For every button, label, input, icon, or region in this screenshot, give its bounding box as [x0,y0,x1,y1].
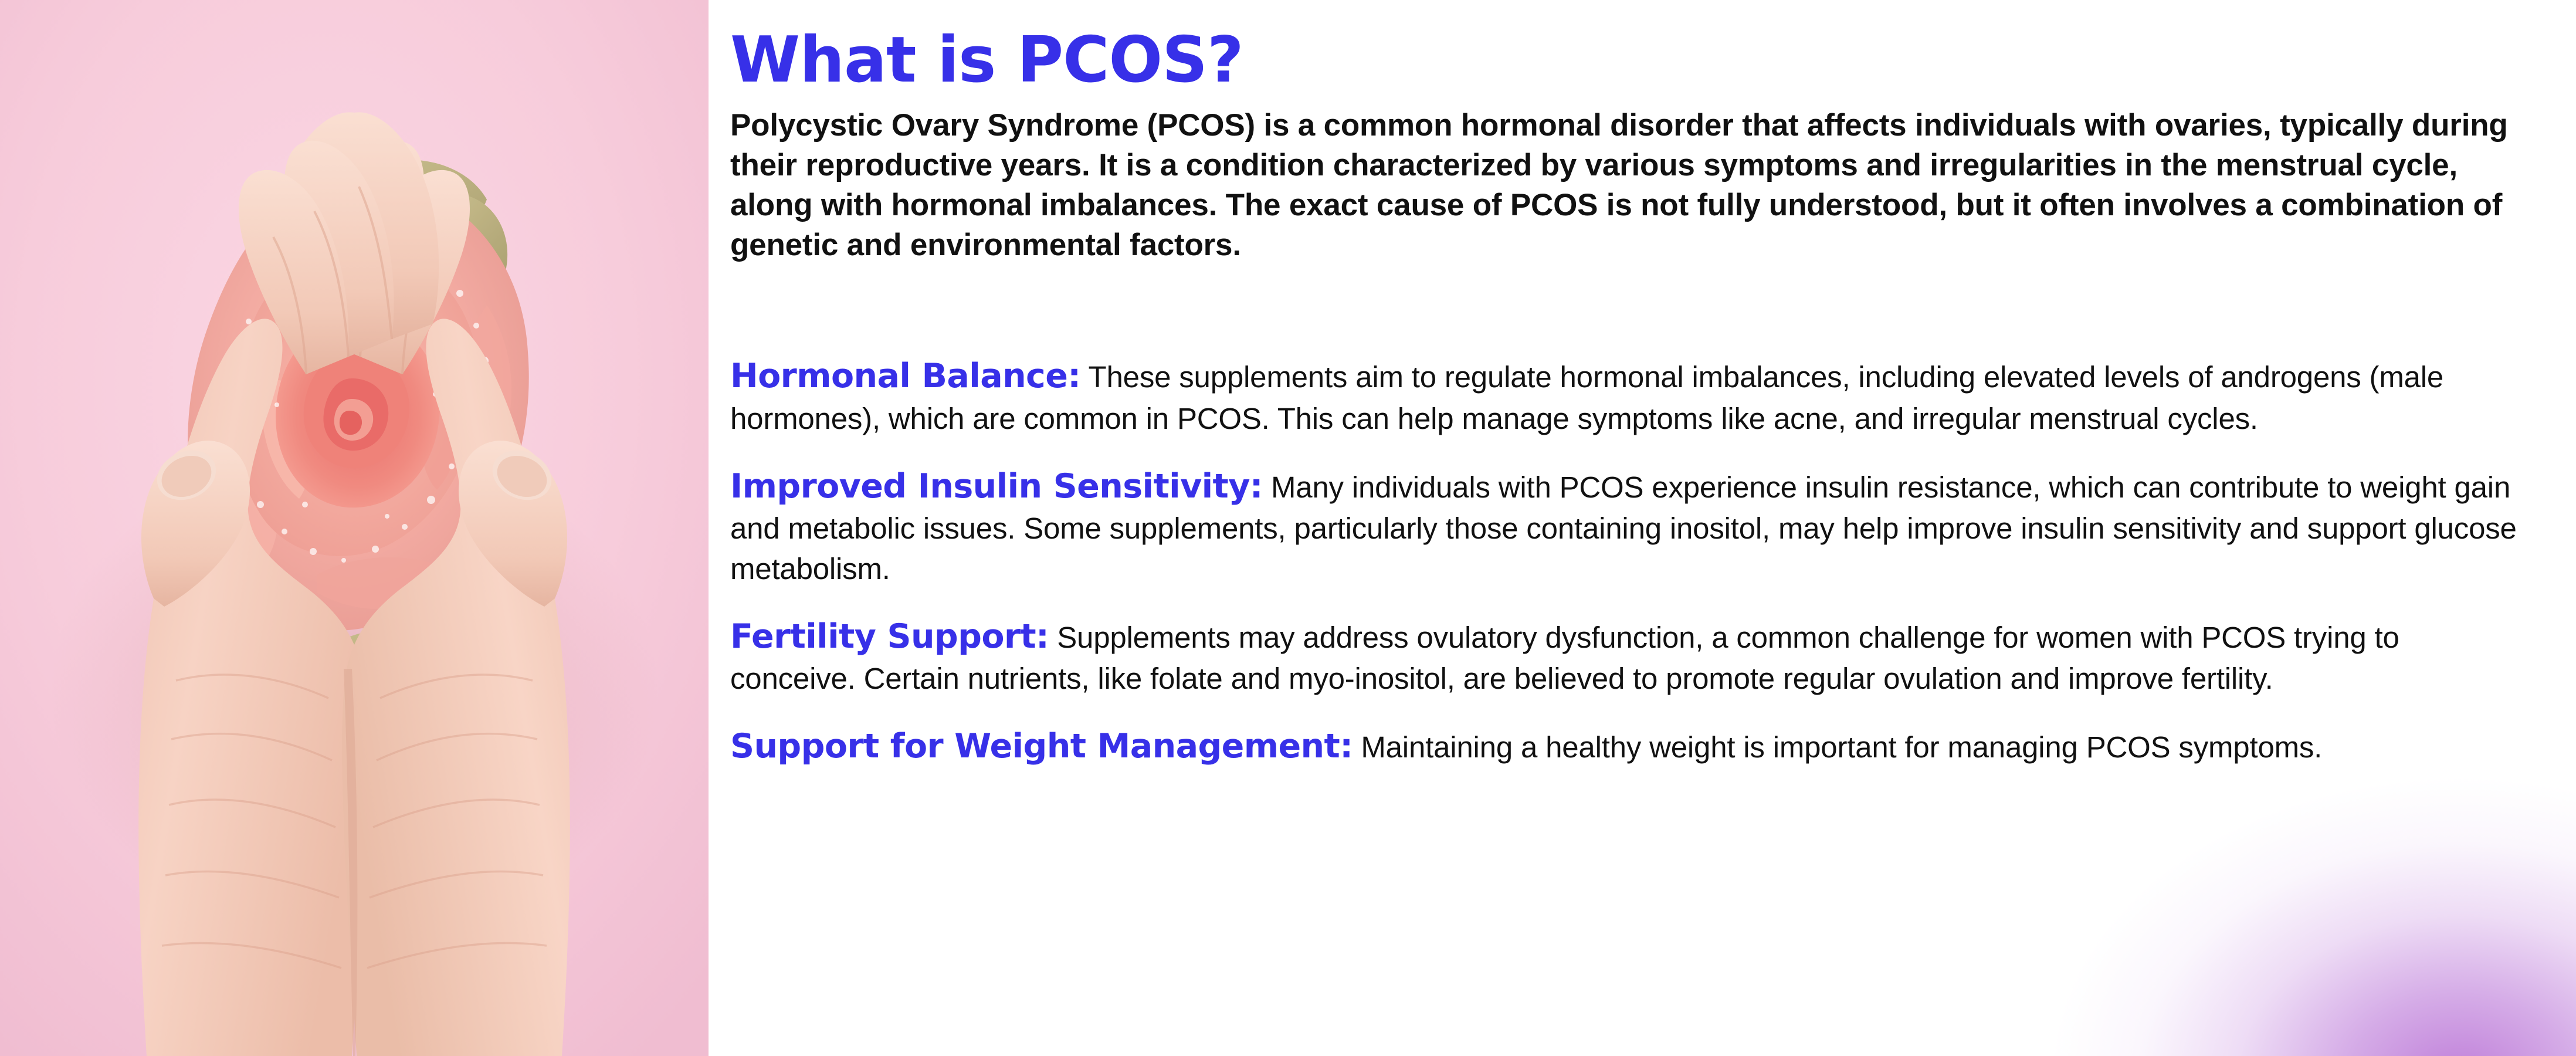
benefit-section-paragraph: Fertility Support: Supplements may addre… [730,614,2522,699]
intro-paragraph: Polycystic Ovary Syndrome (PCOS) is a co… [730,106,2522,265]
rose-in-hands-illustration [0,0,709,1056]
benefit-sections-list: Hormonal Balance: These supplements aim … [730,354,2522,769]
page-title: What is PCOS? [730,28,2522,93]
benefit-heading: Fertility Support: [730,617,1049,656]
benefit-section: Fertility Support: Supplements may addre… [730,614,2522,699]
benefit-heading: Improved Insulin Sensitivity: [730,467,1263,506]
hands-holding-rose-photo [0,0,709,1056]
benefit-section: Improved Insulin Sensitivity: Many indiv… [730,464,2522,590]
pcos-infographic-page: What is PCOS? Polycystic Ovary Syndrome … [0,0,2576,1056]
benefit-heading: Hormonal Balance: [730,357,1081,395]
article-content: What is PCOS? Polycystic Ovary Syndrome … [709,0,2576,1056]
benefit-section: Hormonal Balance: These supplements aim … [730,354,2522,439]
benefit-section-paragraph: Hormonal Balance: These supplements aim … [730,354,2522,439]
benefit-section: Support for Weight Management: Maintaini… [730,724,2522,769]
benefit-heading: Support for Weight Management: [730,727,1353,766]
benefit-section-paragraph: Improved Insulin Sensitivity: Many indiv… [730,464,2522,590]
benefit-text: Maintaining a healthy weight is importan… [1353,730,2322,764]
benefit-section-paragraph: Support for Weight Management: Maintaini… [730,724,2522,769]
